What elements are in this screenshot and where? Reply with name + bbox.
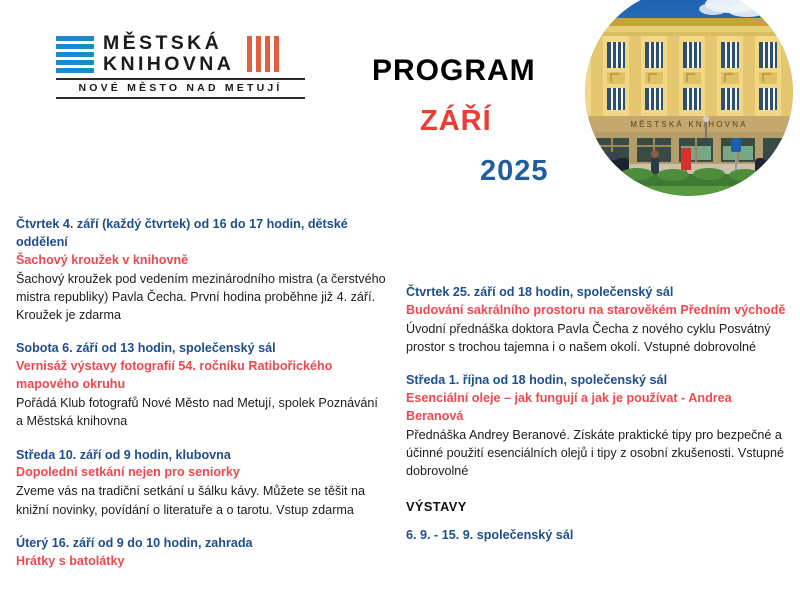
event-title: Dopolední setkání nejen pro seniorky [16, 464, 386, 482]
event-item: Středa 1. října od 18 hodin, společenský… [406, 372, 790, 480]
poster-title-block: PROGRAM ZÁŘÍ 2025 [372, 56, 582, 186]
logo-line-1: MĚSTSKÁ [103, 33, 234, 54]
right-column: Čtvrtek 25. září od 18 hodin, společensk… [400, 216, 800, 600]
event-when: Čtvrtek 4. září (každý čtvrtek) od 16 do… [16, 216, 386, 252]
logo-orange-bars-icon [247, 36, 279, 72]
poster-header: MĚSTSKÁ KNIHOVNA NOVÉ MĚSTO NAD METUJÍ P… [0, 0, 800, 212]
event-when: Středa 1. října od 18 hodin, společenský… [406, 372, 790, 390]
title-program: PROGRAM [372, 56, 582, 86]
event-description: Přednáška Andrey Beranové. Získáte prakt… [406, 426, 790, 481]
svg-text:MĚSTSKÁ KNIHOVNA: MĚSTSKÁ KNIHOVNA [630, 120, 747, 129]
event-description: Šachový kroužek pod vedením mezinárodníh… [16, 270, 386, 325]
title-month: ZÁŘÍ [420, 107, 582, 136]
event-title: Vernisáž výstavy fotografií 54. ročníku … [16, 358, 386, 394]
event-item: Úterý 16. září od 9 do 10 hodin, zahrada… [16, 535, 386, 571]
logo-blue-bars-icon [56, 35, 94, 73]
right-column-top-spacer [406, 216, 790, 284]
event-title: Budování sakrálního prostoru na starověk… [406, 302, 790, 320]
event-title: Šachový kroužek v knihovně [16, 252, 386, 270]
event-title: Hrátky s batolátky [16, 553, 386, 571]
library-logo: MĚSTSKÁ KNIHOVNA NOVÉ MĚSTO NAD METUJÍ [56, 33, 306, 99]
logo-rule-bottom [56, 97, 305, 99]
event-item: Sobota 6. září od 13 hodin, společenský … [16, 340, 386, 430]
section-heading-exhibitions: VÝSTAVY [406, 499, 790, 514]
event-when: Středa 10. září od 9 hodin, klubovna [16, 447, 386, 465]
event-description: Pořádá Klub fotografů Nové Město nad Met… [16, 394, 386, 431]
left-column: Čtvrtek 4. září (každý čtvrtek) od 16 do… [0, 216, 400, 600]
library-building-photo: MĚSTSKÁ KNIHOVNA [585, 0, 793, 196]
logo-wordmark: MĚSTSKÁ KNIHOVNA [103, 33, 234, 74]
program-columns: Čtvrtek 4. září (každý čtvrtek) od 16 do… [0, 216, 800, 600]
program-poster: MĚSTSKÁ KNIHOVNA NOVÉ MĚSTO NAD METUJÍ P… [0, 0, 800, 600]
event-item: Čtvrtek 4. září (každý čtvrtek) od 16 do… [16, 216, 386, 324]
exhibition-when: 6. 9. - 15. 9. společenský sál [406, 527, 790, 545]
event-description: Úvodní přednáška doktora Pavla Čecha z n… [406, 320, 790, 357]
event-when: Čtvrtek 25. září od 18 hodin, společensk… [406, 284, 790, 302]
event-item: Středa 10. září od 9 hodin, klubovna Dop… [16, 447, 386, 519]
event-description: Zveme vás na tradiční setkání u šálku ká… [16, 482, 386, 519]
logo-subtitle-block: NOVÉ MĚSTO NAD METUJÍ [56, 78, 305, 98]
event-when: Úterý 16. září od 9 do 10 hodin, zahrada [16, 535, 386, 553]
event-item: Čtvrtek 25. září od 18 hodin, společensk… [406, 284, 790, 356]
event-when: Sobota 6. září od 13 hodin, společenský … [16, 340, 386, 358]
logo-main-row: MĚSTSKÁ KNIHOVNA [56, 33, 306, 74]
exhibition-item: 6. 9. - 15. 9. společenský sál [406, 527, 790, 545]
event-title: Esenciální oleje – jak fungují a jak je … [406, 390, 790, 426]
title-year: 2025 [480, 157, 582, 186]
building-illustration: MĚSTSKÁ KNIHOVNA [585, 0, 793, 196]
logo-line-2: KNIHOVNA [103, 54, 234, 75]
logo-subtitle: NOVÉ MĚSTO NAD METUJÍ [56, 80, 305, 97]
